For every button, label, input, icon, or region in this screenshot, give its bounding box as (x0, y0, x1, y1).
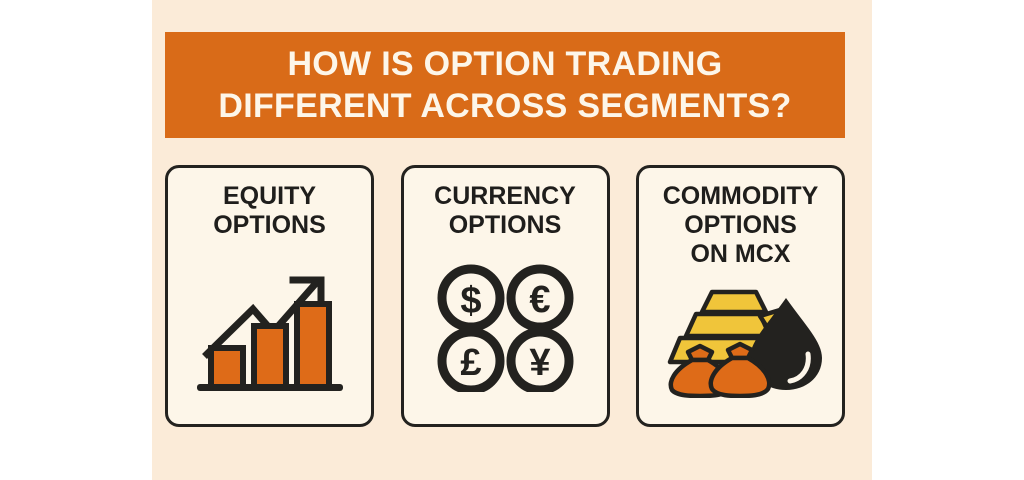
card-art-commodity (645, 269, 836, 414)
infographic-canvas: HOW IS OPTION TRADING DIFFERENT ACROSS S… (0, 0, 1024, 480)
dollar-coin-symbol: $ (460, 280, 481, 322)
card-commodity-options[interactable]: COMMODITY OPTIONS ON MCX (636, 165, 845, 427)
card-art-currency: $ € £ ¥ (410, 240, 601, 414)
dollar-coin-icon: $ (442, 269, 500, 327)
gold-bars-oil-drop-icon (656, 286, 826, 398)
bar-chart-growth-icon (195, 262, 345, 392)
title-banner: HOW IS OPTION TRADING DIFFERENT ACROSS S… (165, 32, 845, 138)
segment-card-row: EQUITY OPTIONS (165, 165, 845, 427)
currency-coins-icon: $ € £ ¥ (430, 262, 580, 392)
card-equity-options[interactable]: EQUITY OPTIONS (165, 165, 374, 427)
pound-coin-symbol: £ (460, 342, 481, 384)
card-title-currency: CURRENCY OPTIONS (434, 182, 576, 240)
euro-coin-icon: € (511, 269, 569, 327)
euro-coin-symbol: € (529, 279, 550, 321)
yen-coin-icon: ¥ (511, 332, 569, 390)
card-title-equity: EQUITY OPTIONS (213, 182, 326, 240)
card-title-commodity: COMMODITY OPTIONS ON MCX (663, 182, 819, 269)
banner-title: HOW IS OPTION TRADING DIFFERENT ACROSS S… (218, 43, 791, 127)
card-art-equity (174, 240, 365, 414)
card-currency-options[interactable]: CURRENCY OPTIONS $ € (401, 165, 610, 427)
yen-coin-symbol: ¥ (529, 342, 550, 384)
pound-coin-icon: £ (442, 332, 500, 390)
